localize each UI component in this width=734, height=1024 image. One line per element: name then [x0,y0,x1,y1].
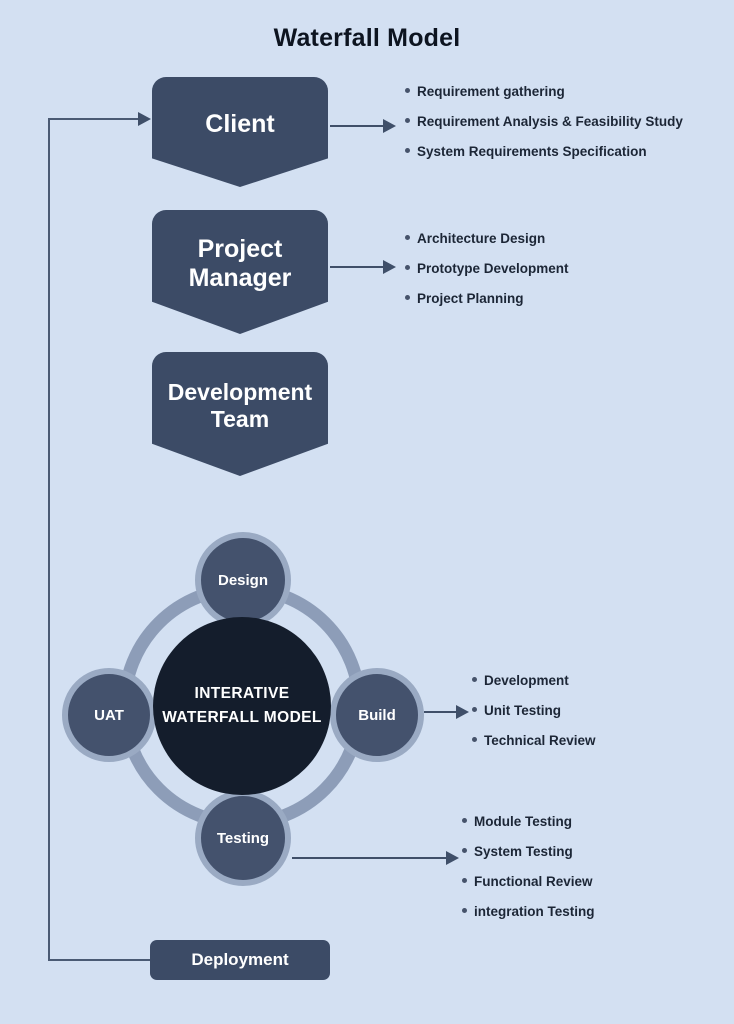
bullet-text: Architecture Design [417,231,545,246]
cycle-node-testing[interactable]: Testing [195,790,291,886]
stage-label-client: Client [205,110,274,140]
bullet-dot-icon [405,265,410,270]
arrow-project-manager-line [330,266,386,268]
bullet-dot-icon [462,878,467,883]
bullet-dot-icon [405,148,410,153]
cycle-center-circle: INTERATIVE WATERFALL MODEL [153,617,331,795]
list-item: Prototype Development [405,261,569,291]
bullet-text: Unit Testing [484,703,561,718]
feedback-loop-arrow-icon [138,112,151,126]
stage-label-deployment: Deployment [191,950,288,970]
page-title: Waterfall Model [0,24,734,53]
stage-label-line1: Project [198,235,283,263]
bullet-text: Requirement gathering [417,84,565,99]
bullet-dot-icon [472,737,477,742]
cycle-node-label-uat: UAT [94,707,124,724]
list-item: Requirement gathering [405,84,683,114]
bullet-dot-icon [405,235,410,240]
stage-label-development-team: Development Team [168,379,312,433]
stage-label-line1: Development [168,379,312,405]
bullet-dot-icon [472,677,477,682]
arrow-build-line [424,711,460,713]
bullet-text: Technical Review [484,733,596,748]
diagram-canvas: Waterfall Model Client Requirement gathe… [0,0,734,1024]
arrow-testing-line [292,857,450,859]
cycle-node-build[interactable]: Build [330,668,424,762]
cycle-node-label-design: Design [218,572,268,589]
stage-box-client[interactable]: Client [152,77,328,187]
feedback-loop-top-segment [48,118,144,120]
bullet-list-client: Requirement gathering Requirement Analys… [405,84,683,174]
arrow-build-head-icon [456,705,469,719]
list-item: Development [472,673,596,703]
bullet-text: Development [484,673,569,688]
bullet-text: Prototype Development [417,261,569,276]
stage-label-line2: Manager [189,264,292,292]
bullet-text: integration Testing [474,904,595,919]
feedback-loop-bottom-segment [48,959,152,961]
bullet-list-project-manager: Architecture Design Prototype Developmen… [405,231,569,321]
bullet-text: Requirement Analysis & Feasibility Study [417,114,683,129]
stage-label-project-manager: Project Manager [189,235,292,294]
bullet-list-testing: Module Testing System Testing Functional… [462,814,595,934]
cycle-center-line1: INTERATIVE [195,682,290,706]
stage-box-project-manager[interactable]: Project Manager [152,210,328,334]
list-item: Technical Review [472,733,596,763]
stage-box-deployment[interactable]: Deployment [150,940,330,980]
bullet-dot-icon [462,908,467,913]
cycle-node-label-build: Build [358,707,396,724]
bullet-dot-icon [472,707,477,712]
feedback-loop-left-segment [48,118,50,961]
arrow-client-line [330,125,386,127]
bullet-list-build: Development Unit Testing Technical Revie… [472,673,596,763]
bullet-text: Module Testing [474,814,572,829]
bullet-dot-icon [405,88,410,93]
bullet-text: Project Planning [417,291,524,306]
iterative-cycle-group: Design Build Testing UAT INTERATIVE WATE… [68,538,428,888]
bullet-text: System Testing [474,844,573,859]
arrow-client-head-icon [383,119,396,133]
bullet-dot-icon [462,818,467,823]
cycle-node-uat[interactable]: UAT [62,668,156,762]
list-item: Project Planning [405,291,569,321]
arrow-testing-head-icon [446,851,459,865]
list-item: System Requirements Specification [405,144,683,174]
list-item: integration Testing [462,904,595,934]
list-item: Unit Testing [472,703,596,733]
cycle-node-label-testing: Testing [217,830,269,847]
bullet-text: System Requirements Specification [417,144,647,159]
list-item: Architecture Design [405,231,569,261]
list-item: Requirement Analysis & Feasibility Study [405,114,683,144]
bullet-dot-icon [405,118,410,123]
stage-label-line2: Team [211,406,269,432]
list-item: Functional Review [462,874,595,904]
bullet-dot-icon [462,848,467,853]
cycle-node-design[interactable]: Design [195,532,291,628]
cycle-center-line2: WATERFALL MODEL [162,706,322,730]
arrow-project-manager-head-icon [383,260,396,274]
stage-box-development-team[interactable]: Development Team [152,352,328,476]
list-item: Module Testing [462,814,595,844]
bullet-text: Functional Review [474,874,593,889]
bullet-dot-icon [405,295,410,300]
list-item: System Testing [462,844,595,874]
